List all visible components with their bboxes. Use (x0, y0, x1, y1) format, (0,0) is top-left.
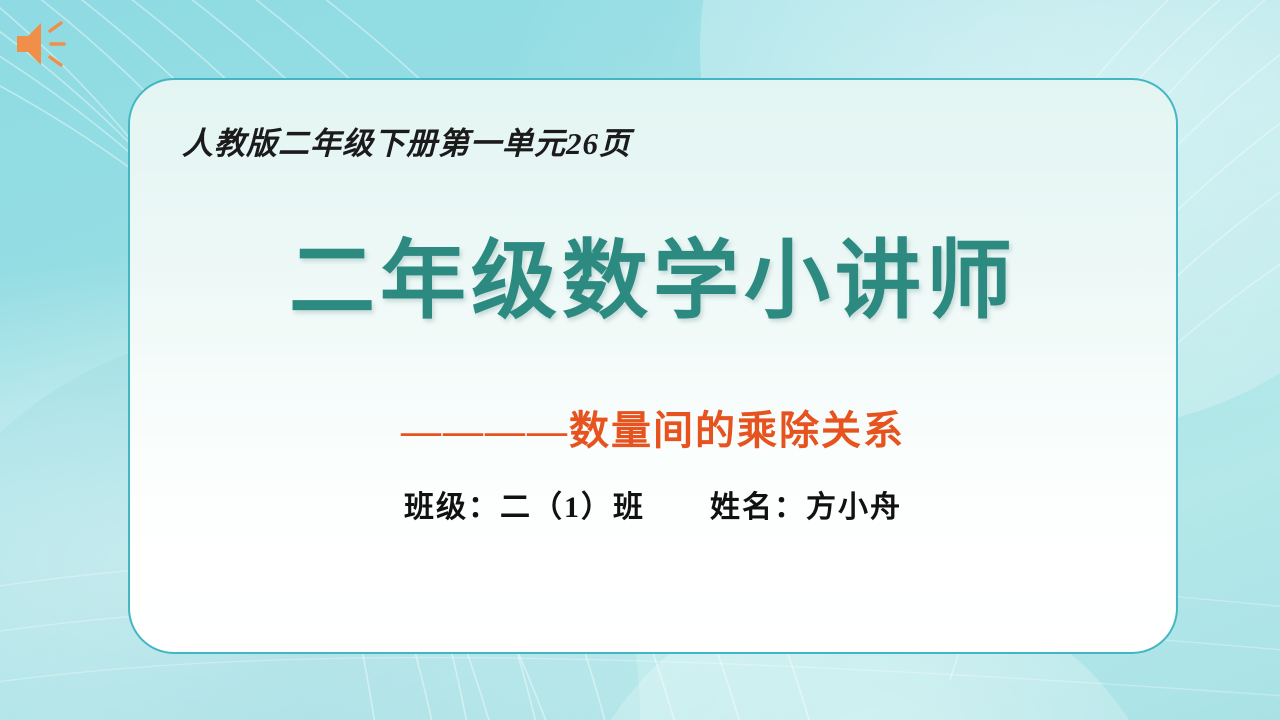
edition-note: 人教版二年级下册第一单元26页 (182, 118, 631, 163)
slide-canvas: 人教版二年级下册第一单元26页 二年级数学小讲师 ————数量间的乘除关系 班级… (0, 0, 1280, 720)
speaker-icon[interactable] (14, 18, 76, 70)
name-label: 姓名：方小舟 (710, 491, 902, 524)
page-subtitle: ————数量间的乘除关系 (130, 398, 1176, 456)
class-label: 班级：二（1）班 (404, 491, 645, 524)
title-card-content: 人教版二年级下册第一单元26页 二年级数学小讲师 ————数量间的乘除关系 班级… (130, 80, 1176, 652)
title-card: 人教版二年级下册第一单元26页 二年级数学小讲师 ————数量间的乘除关系 班级… (128, 78, 1178, 654)
student-meta-line: 班级：二（1）班 姓名：方小舟 (130, 482, 1176, 526)
page-title: 二年级数学小讲师 (130, 238, 1176, 324)
